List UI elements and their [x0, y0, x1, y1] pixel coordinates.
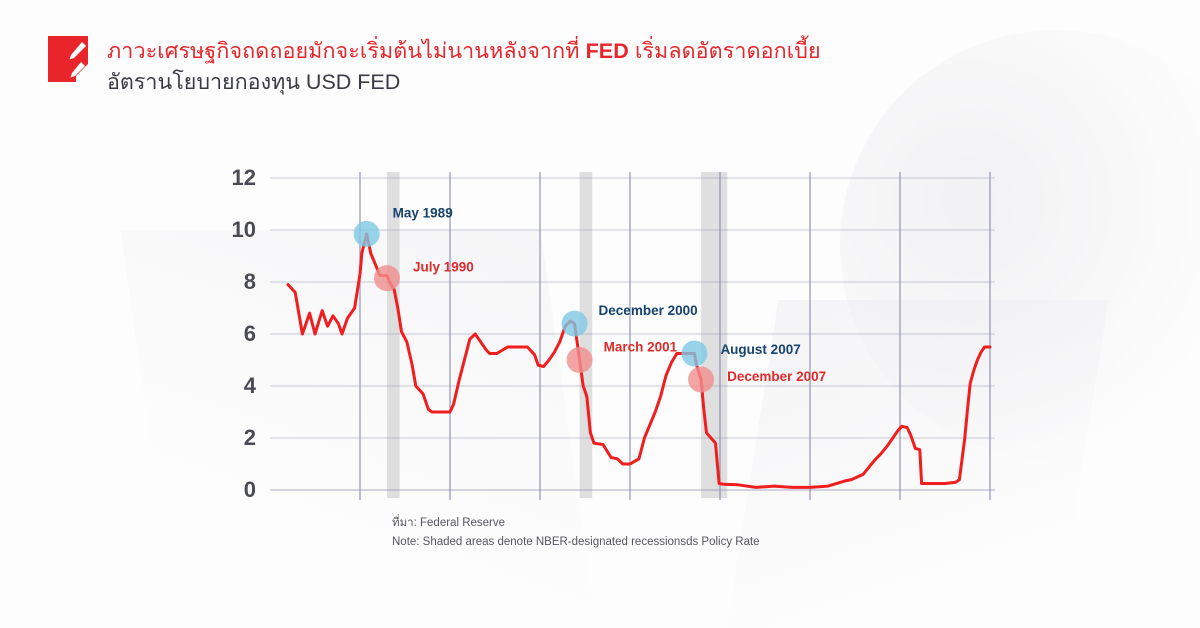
methodology-note: Note: Shaded areas denote NBER-designate…	[392, 533, 760, 552]
recession-band	[580, 172, 593, 498]
y-tick-label: 8	[244, 269, 256, 294]
y-tick-label: 2	[244, 425, 256, 450]
annotation-marker-blue	[354, 221, 380, 247]
annotation-label: May 1989	[393, 205, 453, 220]
y-tick-label: 6	[244, 321, 256, 346]
annotation-label: July 1990	[413, 260, 474, 275]
source-note: ที่มา: Federal Reserve	[392, 514, 760, 533]
annotation-label: March 2001	[604, 340, 678, 355]
infographic-root: ภาวะเศรษฐกิจถดถอยมักจะเริ่มต้นไม่นานหลัง…	[0, 0, 1200, 628]
recession-band	[387, 172, 400, 498]
horizontal-gridlines	[270, 178, 995, 490]
recession-band	[701, 172, 727, 498]
annotation-label: August 2007	[720, 342, 800, 357]
y-tick-label: 4	[244, 373, 257, 398]
annotation-marker-blue	[562, 311, 588, 337]
annotation-labels: May 1989July 1990December 2000March 2001…	[393, 205, 827, 384]
y-tick-label: 10	[232, 217, 256, 242]
annotation-marker-red	[567, 347, 593, 373]
footnotes: ที่มา: Federal Reserve Note: Shaded area…	[392, 514, 760, 551]
vertical-gridlines	[360, 172, 990, 500]
y-tick-label: 12	[232, 165, 256, 190]
y-axis-tick-labels: 024681012	[232, 165, 257, 502]
annotation-label: December 2000	[599, 303, 698, 318]
annotation-marker-blue	[681, 341, 707, 367]
annotation-marker-red	[374, 265, 400, 291]
y-tick-label: 0	[244, 477, 256, 502]
annotation-marker-red	[688, 367, 714, 393]
annotation-label: December 2007	[727, 369, 826, 384]
recession-bands-group	[387, 172, 727, 498]
